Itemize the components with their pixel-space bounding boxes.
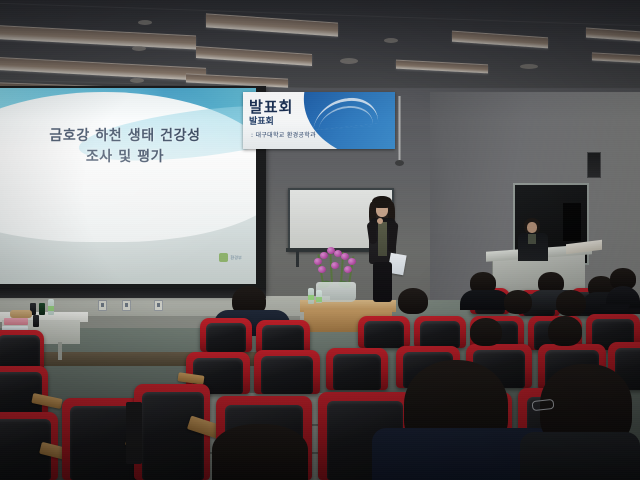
beverage-can xyxy=(33,315,39,327)
banner-subhead: 발표회 xyxy=(249,114,274,127)
slide-logo-text: 환경부 xyxy=(230,255,242,261)
orchid-bloom xyxy=(344,266,352,273)
ceiling-light-fixture xyxy=(206,13,338,36)
banner-wave-graphic xyxy=(292,92,395,149)
orchid-bloom xyxy=(320,252,328,259)
ceiling-vent xyxy=(520,64,538,69)
cap-brim xyxy=(600,304,630,310)
orchid-pot xyxy=(316,282,356,302)
refreshment-table-leg xyxy=(58,342,62,360)
orchid-bloom xyxy=(348,258,356,265)
ceiling-speaker-grille xyxy=(384,38,398,43)
ceiling-light-fixture xyxy=(452,31,548,49)
audience-shoulders xyxy=(460,290,510,310)
audience-head xyxy=(504,290,532,314)
ceiling-speaker-grille xyxy=(132,46,146,51)
paper-stack xyxy=(4,318,28,325)
wall-outlet xyxy=(154,300,163,311)
presenter xyxy=(362,196,402,306)
wall-speaker xyxy=(587,152,601,178)
water-bottle xyxy=(48,299,54,315)
water-bottle xyxy=(308,288,314,304)
ceiling-speaker-grille xyxy=(138,20,152,25)
ceiling-speaker-grille xyxy=(340,58,358,64)
event-banner: 발표회 발표회 : 대구대학교 환경공학과 xyxy=(243,92,395,149)
audience-head xyxy=(398,288,428,314)
slide-title: 금호강 하천 생태 건강성 조사 및 평가 xyxy=(0,126,256,168)
screen-bottom-bar xyxy=(0,288,266,298)
projection-screen-surface: 금호강 하천 생태 건강성 조사 및 평가 환경부 xyxy=(0,88,256,284)
ceiling-light-fixture xyxy=(396,60,488,74)
ceiling-light-fixture xyxy=(592,52,640,63)
presenter-legs xyxy=(373,262,392,302)
wall-outlet xyxy=(122,300,131,311)
audience-head xyxy=(556,290,586,316)
orchid-bloom xyxy=(314,258,322,265)
ceiling-light-fixture xyxy=(0,24,196,49)
ceiling-light-fixture xyxy=(586,28,640,43)
projection-screen: 금호강 하천 생태 건강성 조사 및 평가 환경부 xyxy=(0,86,266,294)
ceiling xyxy=(0,0,640,96)
audience-shoulders-foreground xyxy=(520,432,640,480)
wall-outlet xyxy=(98,300,107,311)
snack-tray xyxy=(10,310,32,318)
operator-collar xyxy=(528,234,536,244)
slide-logo: 환경부 xyxy=(219,253,242,262)
operator-face xyxy=(527,222,537,233)
slide-title-line-2: 조사 및 평가 xyxy=(0,147,256,168)
presenter-hand-microphone xyxy=(377,218,383,224)
presenter-inner-top xyxy=(378,222,387,256)
whiteboard-leg xyxy=(296,251,299,267)
presenter-arm-right xyxy=(387,222,398,253)
audience-head xyxy=(548,316,582,346)
auditorium-photo: 금호강 하천 생태 건강성 조사 및 평가 환경부 발표회 발표회 : 대구대학… xyxy=(0,0,640,480)
audience-head xyxy=(470,318,502,346)
audience-head-foreground xyxy=(212,424,308,480)
water-bottle xyxy=(316,290,322,303)
doorway-dark-interior xyxy=(563,203,581,241)
lectern-operator xyxy=(516,218,550,260)
orchid-bloom xyxy=(318,266,326,273)
leaf-icon xyxy=(219,253,228,262)
banner-support-pole xyxy=(398,96,401,164)
ceiling-light-fixture xyxy=(196,46,312,66)
banner-pole-cap xyxy=(395,160,404,166)
banner-affiliation: : 대구대학교 환경공학과 xyxy=(251,130,316,139)
slide-title-line-1: 금호강 하천 생태 건강성 xyxy=(0,126,256,147)
beverage-can xyxy=(39,303,45,315)
ceiling-light-fixture xyxy=(0,56,206,81)
orchid-bloom xyxy=(331,262,339,269)
